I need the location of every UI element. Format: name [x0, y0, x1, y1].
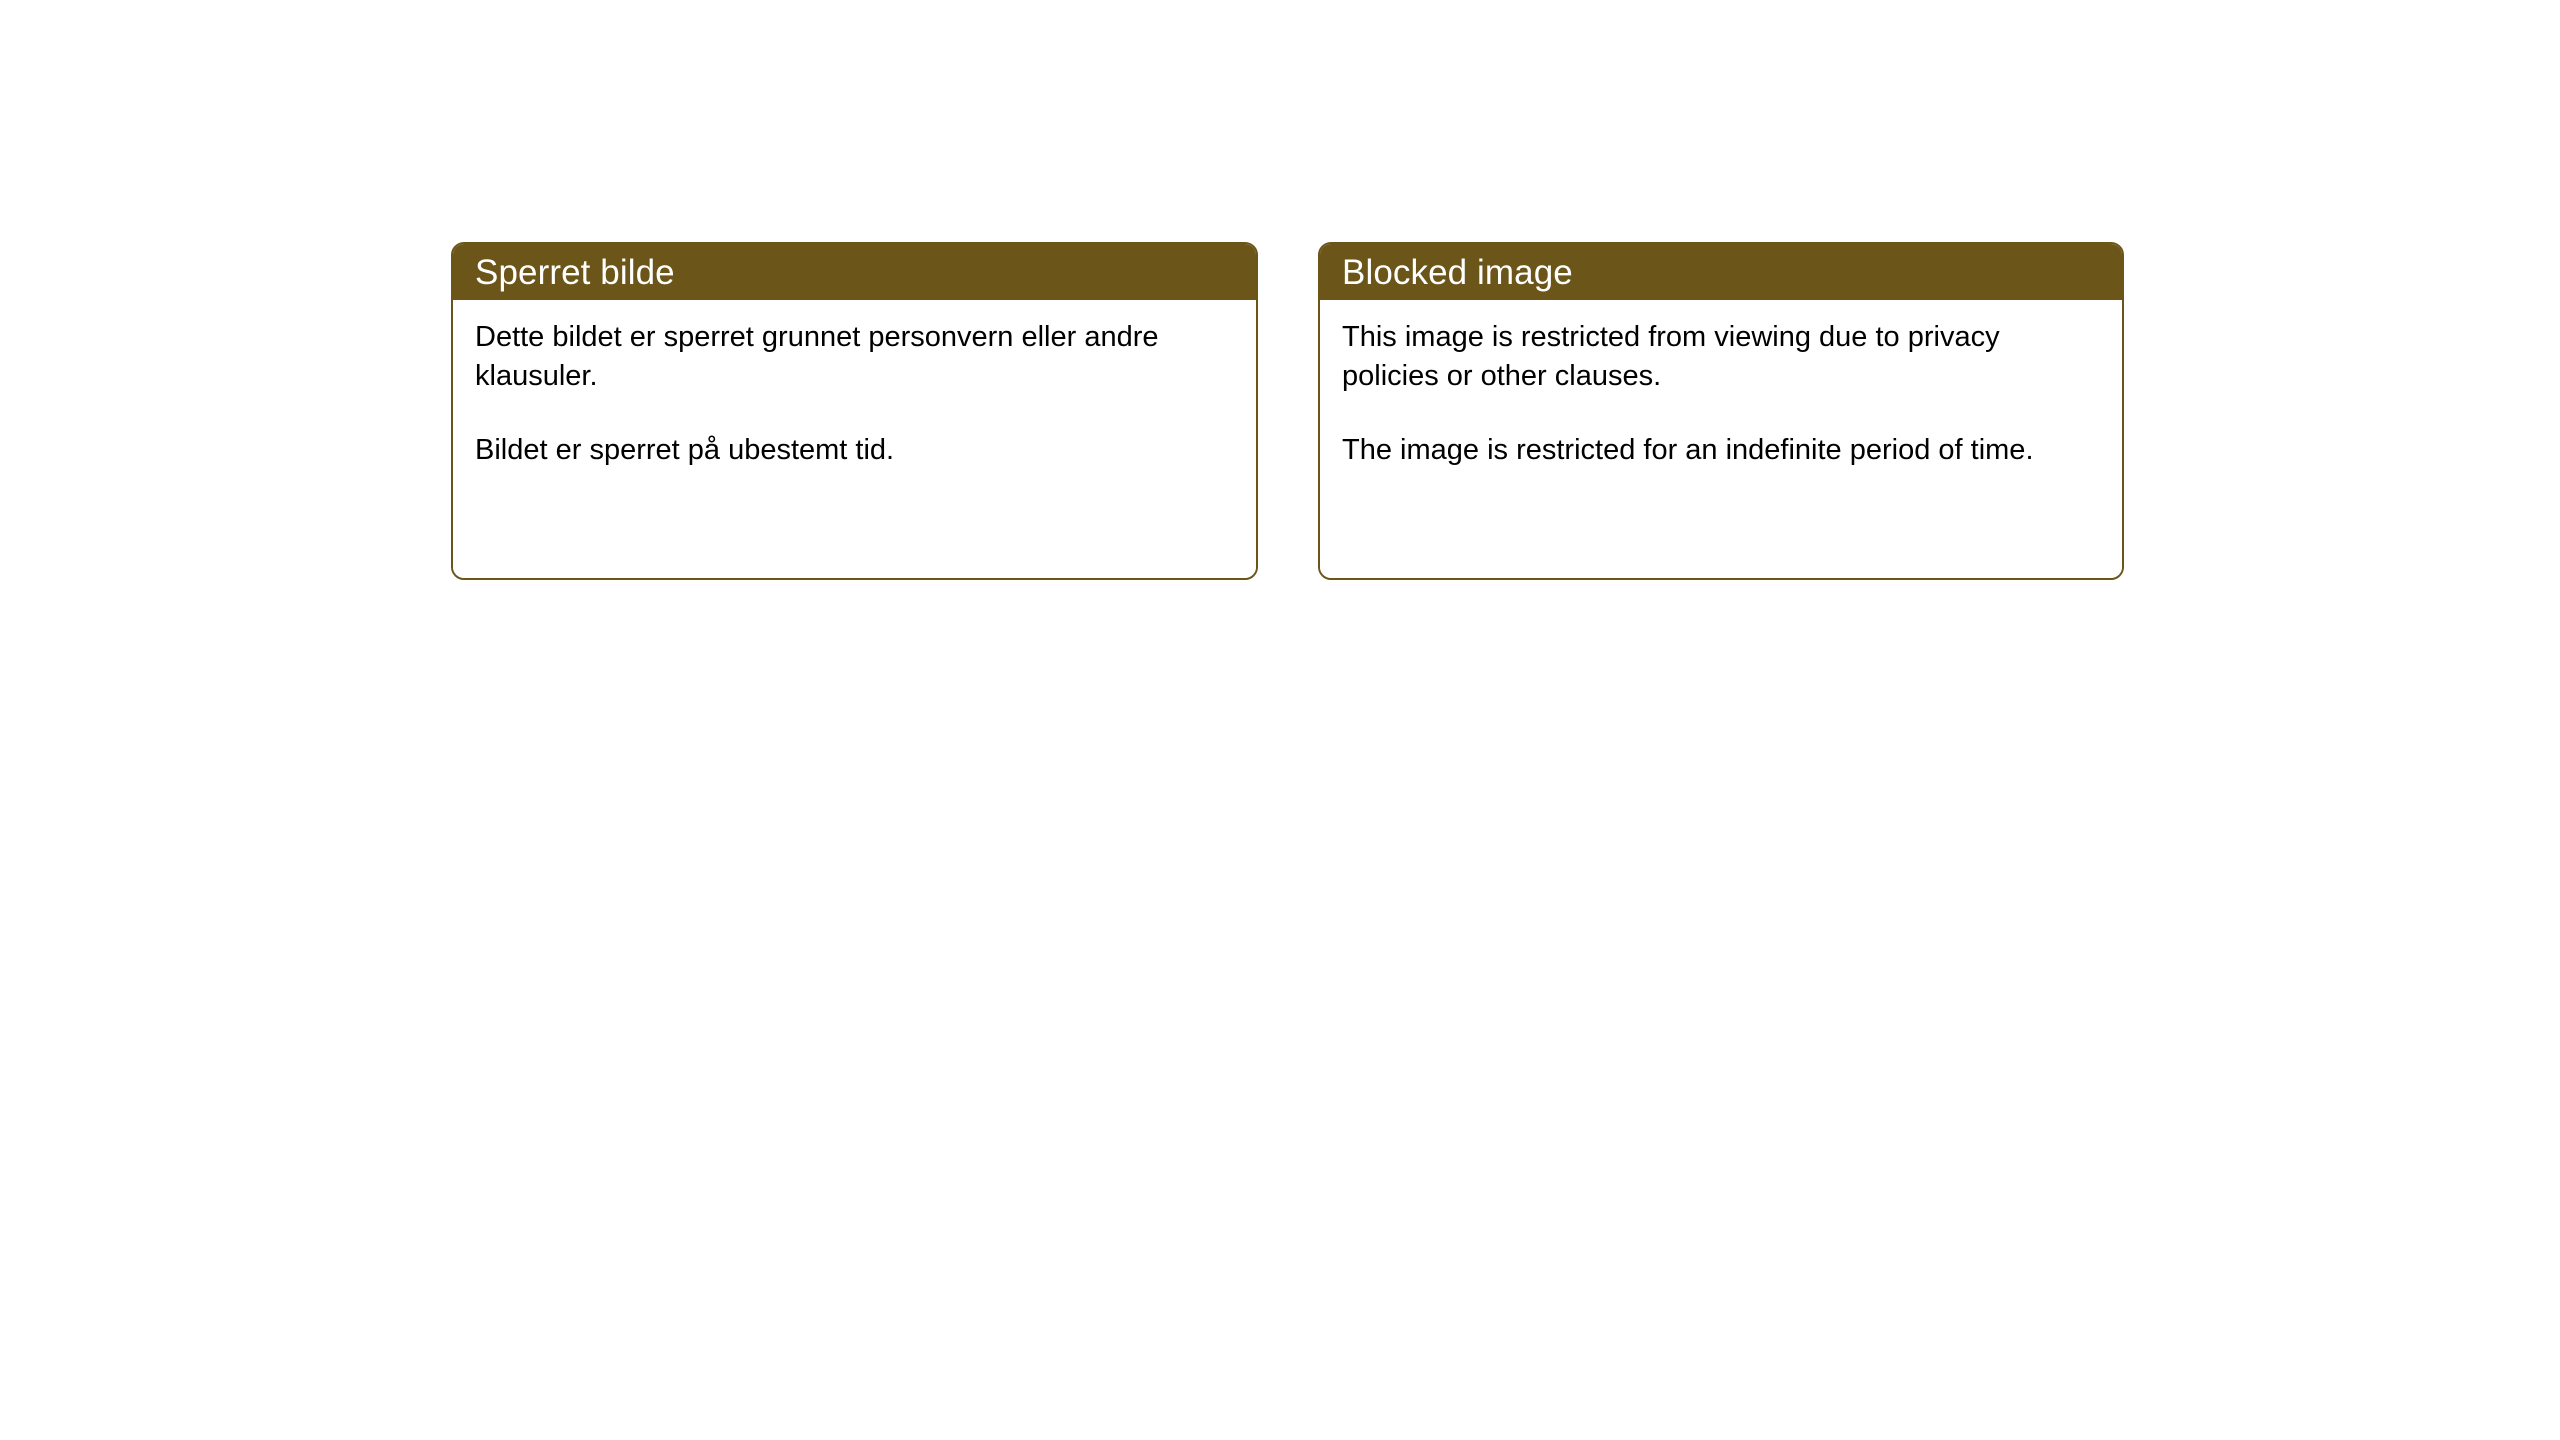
- blocked-image-card-norwegian: Sperret bilde Dette bildet er sperret gr…: [451, 242, 1258, 580]
- blocked-image-notice-area: Sperret bilde Dette bildet er sperret gr…: [451, 242, 2124, 580]
- card-paragraph-reason-norwegian: Dette bildet er sperret grunnet personve…: [475, 318, 1236, 395]
- card-body-norwegian: Dette bildet er sperret grunnet personve…: [453, 300, 1256, 578]
- card-paragraph-reason-english: This image is restricted from viewing du…: [1342, 318, 2102, 395]
- card-header-english: Blocked image: [1320, 244, 2122, 300]
- card-paragraph-duration-english: The image is restricted for an indefinit…: [1342, 431, 2102, 470]
- card-header-norwegian: Sperret bilde: [453, 244, 1256, 300]
- card-body-english: This image is restricted from viewing du…: [1320, 300, 2122, 578]
- card-paragraph-duration-norwegian: Bildet er sperret på ubestemt tid.: [475, 431, 1236, 470]
- blocked-image-card-english: Blocked image This image is restricted f…: [1318, 242, 2124, 580]
- card-title-english: Blocked image: [1342, 255, 1573, 290]
- card-title-norwegian: Sperret bilde: [475, 255, 675, 290]
